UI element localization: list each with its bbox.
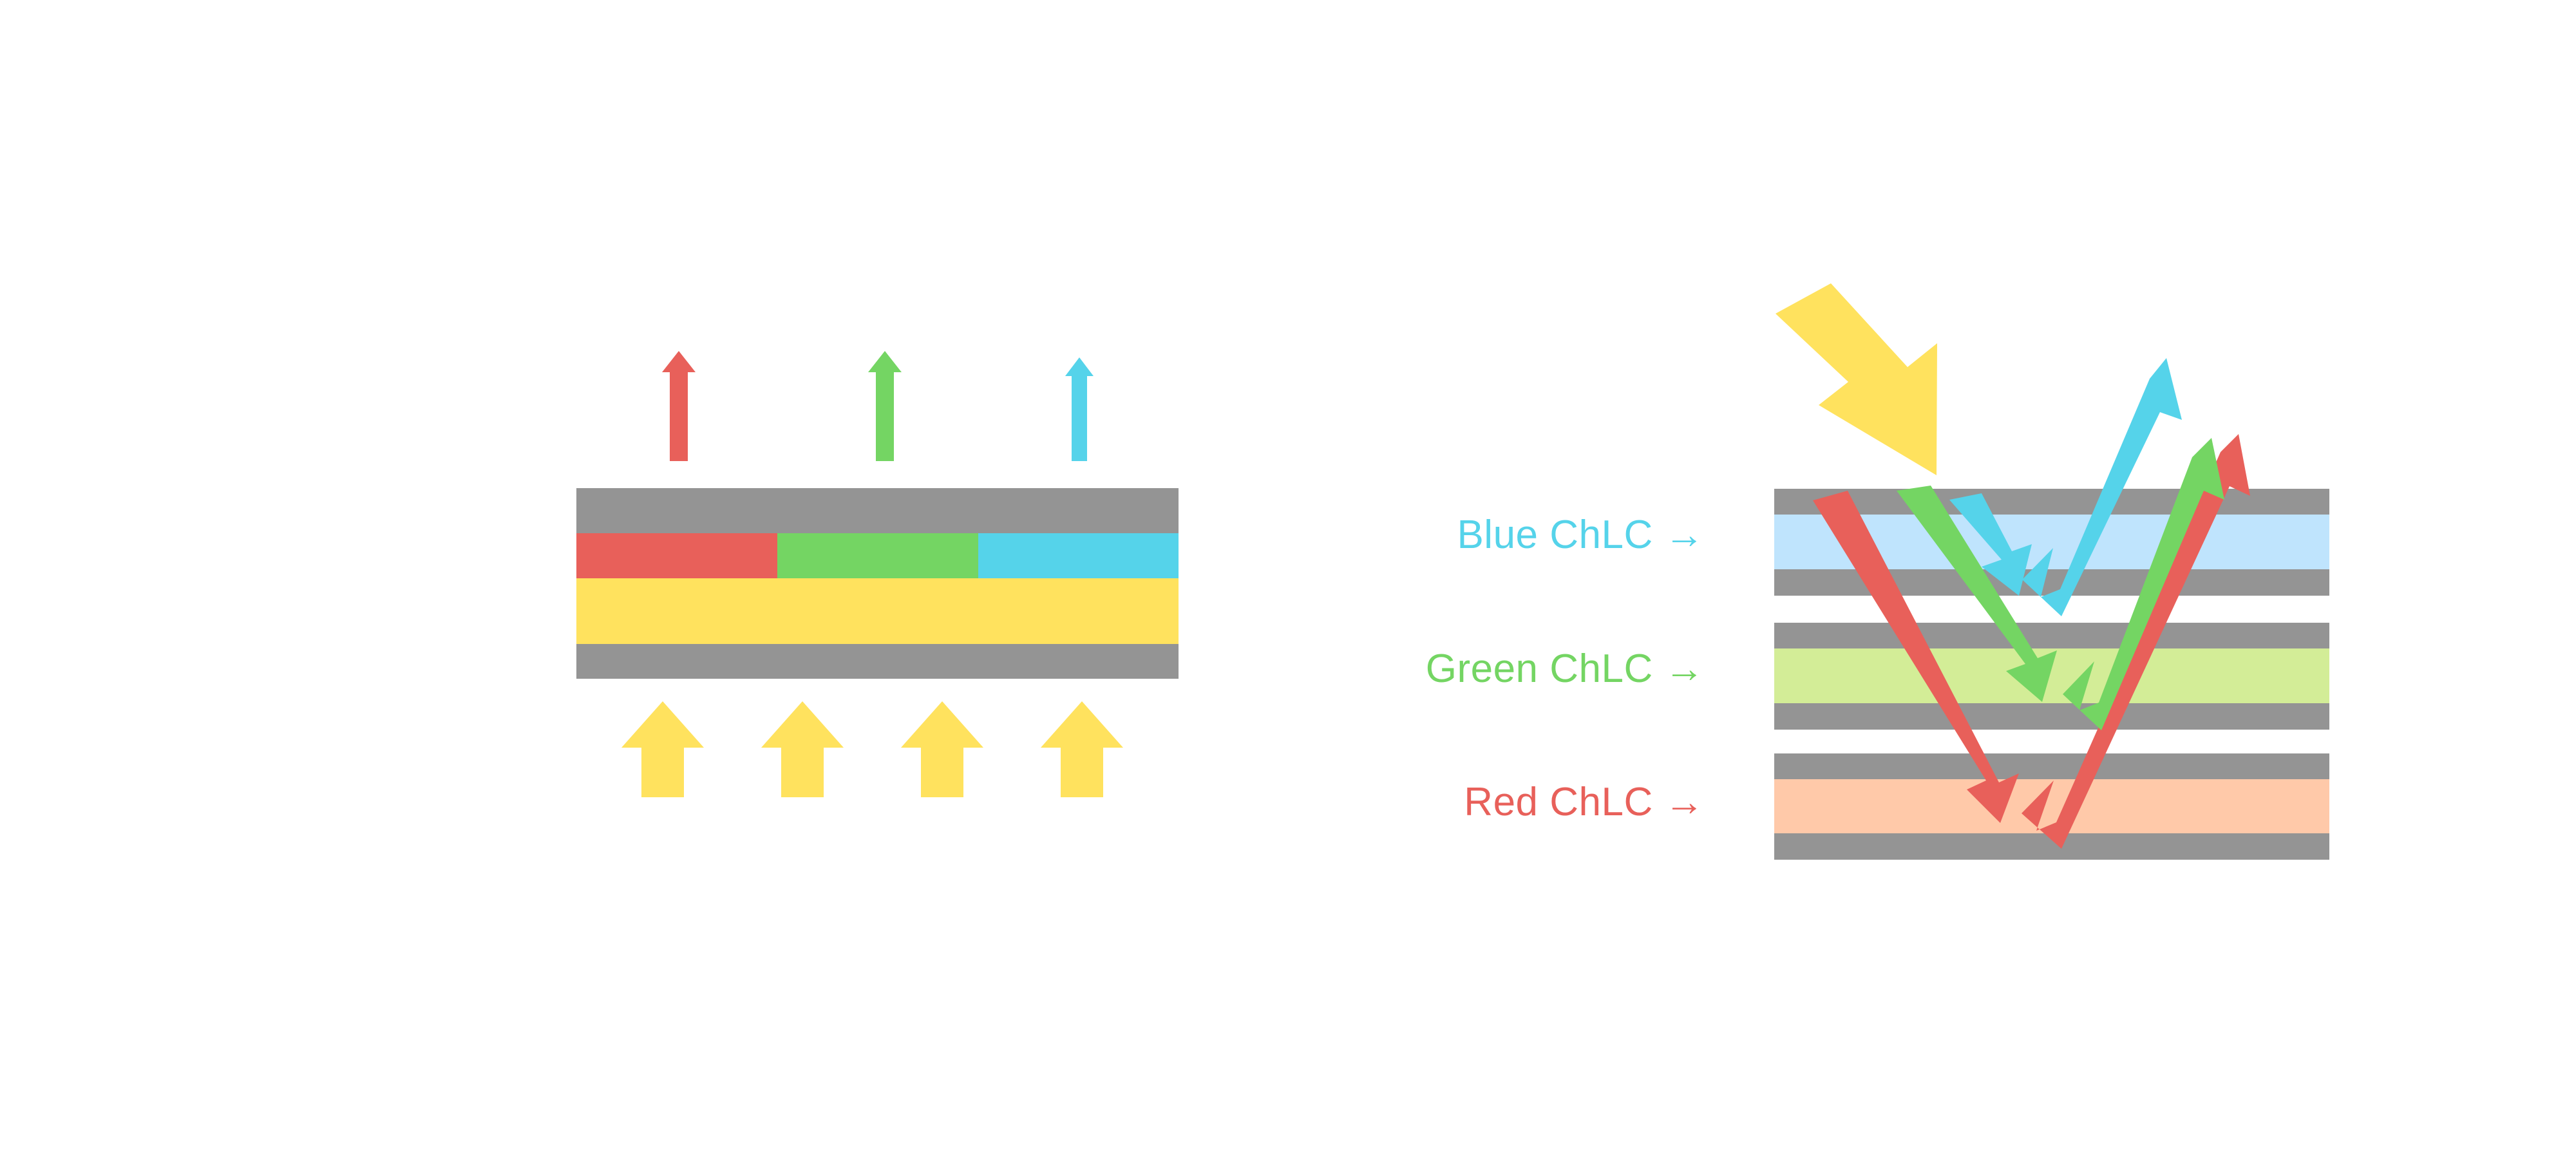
backlight-arrow-1: [621, 701, 704, 797]
left-layer-filter-red: [576, 533, 777, 578]
left-layer-backlight: [576, 578, 1179, 644]
green-chlc-label: Green ChLC →: [1426, 647, 1705, 691]
right-panel: Blue ChLC → Green ChLC → Red ChLC →: [1426, 283, 2329, 860]
left-stack-group: [576, 488, 1179, 679]
green-chlc-cell: [1774, 623, 2329, 730]
blue-chlc-label: Blue ChLC →: [1457, 513, 1705, 557]
left-layer-top-electrode: [576, 488, 1179, 533]
backlight-arrow-3: [901, 701, 983, 797]
left-layer-bottom-electrode: [576, 644, 1179, 679]
backlight-rays-group: [621, 701, 1123, 797]
diagram-svg: Blue ChLC → Green ChLC → Red ChLC →: [0, 0, 2576, 1154]
red-chlc-cell: [1774, 753, 2329, 860]
red-cell-top-electrode: [1774, 753, 2329, 779]
figure-canvas: Blue ChLC → Green ChLC → Red ChLC →: [0, 0, 2576, 1154]
left-layer-filter-green-band: [777, 533, 978, 578]
blue-cell-bottom-electrode: [1774, 569, 2329, 596]
left-layer-filter-blue-band: [978, 533, 1179, 578]
red-chlc-label: Red ChLC →: [1464, 780, 1705, 824]
emitted-ray-red-arrow: [662, 351, 696, 461]
incident-yellow-arrow: [1776, 283, 1937, 475]
left-panel: [576, 351, 1179, 797]
green-cell-bottom-electrode: [1774, 703, 2329, 730]
green-cell-top-electrode: [1774, 623, 2329, 648]
backlight-arrow-2: [761, 701, 844, 797]
emitted-ray-green-arrow: [868, 351, 902, 461]
backlight-arrow-4: [1041, 701, 1123, 797]
emitted-rays-group: [662, 351, 1094, 461]
emitted-ray-cyan-arrow: [1065, 357, 1094, 461]
